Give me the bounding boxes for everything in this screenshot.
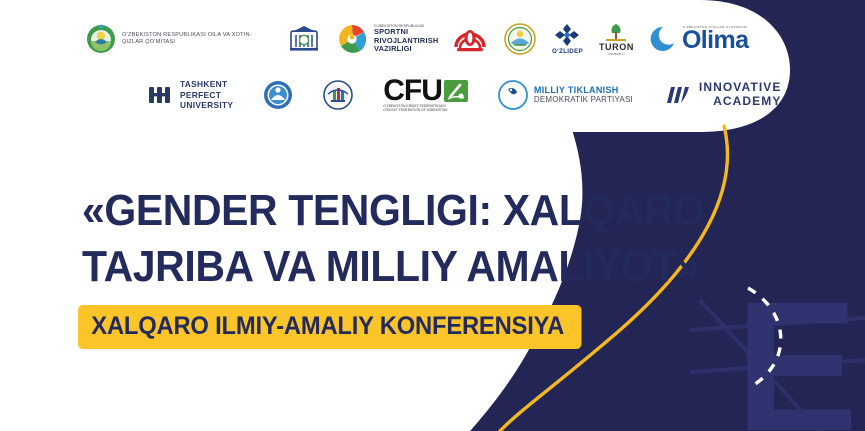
ghost-letters-text: ENT — [735, 264, 865, 431]
logo-band-shape — [0, 0, 790, 132]
page-title-line-2: TAJRIBA VA MILLIY AMALIYOT» — [82, 239, 705, 295]
page-title-line-1: «GENDER TENGLIGI: XALQARO — [82, 183, 705, 239]
conference-banner: ENT — [0, 0, 865, 431]
page-title: «GENDER TENGLIGI: XALQARO TAJRIBA VA MIL… — [82, 183, 705, 296]
conference-type-badge: XALQARO ILMIY-AMALIY KONFERENSIYA — [78, 305, 581, 349]
